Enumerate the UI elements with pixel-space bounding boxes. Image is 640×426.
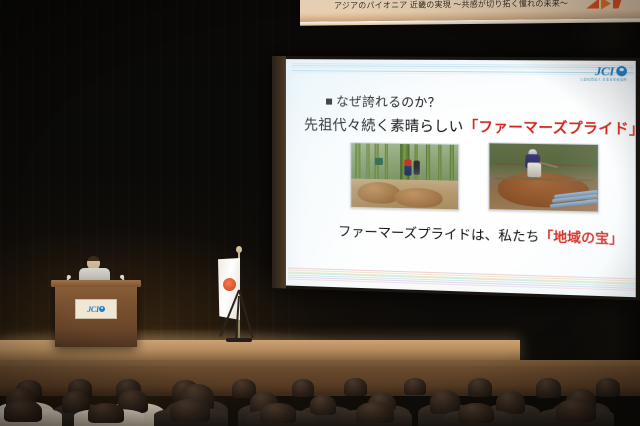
- slide-footer-line: ファーマーズプライドは、私たち「地域の宝」: [338, 221, 623, 248]
- slide-headline-text: なぜ誇れるのか？: [336, 95, 441, 110]
- bullet-square-icon: [326, 99, 332, 105]
- banner-arrow-mark-icon: [586, 0, 624, 11]
- audience-head: [536, 378, 561, 398]
- podium-jci-wordmark: JCI: [87, 305, 99, 314]
- audience: [0, 372, 640, 426]
- audience-head: [404, 378, 426, 395]
- podium-jci-emblem-icon: [99, 306, 105, 312]
- jci-logo-subtitle: 公益社団法人 日本青年会議所: [580, 79, 627, 82]
- slide-subhead: 先祖代々続く素晴らしい「ファーマーズプライド」: [304, 114, 636, 139]
- presentation-scene-photo: アジアのパイオニア 近畿の実現 ～共感が切り拓く憧れの未来～ JCI 公益社団法…: [0, 0, 640, 426]
- slide-bottom-stripes: [288, 267, 636, 293]
- slide-top-stripes: [292, 63, 634, 78]
- slide-jci-logo: JCI 公益社団法人 日本青年会議所: [586, 65, 627, 82]
- audience-head: [292, 379, 314, 397]
- audience-head: [4, 400, 42, 422]
- slide-subhead-highlight: 「ファーマーズプライド」: [464, 120, 636, 138]
- flag-base: [226, 338, 252, 342]
- slide-footer-highlight: 「地域の宝」: [539, 229, 623, 247]
- event-banner-text: アジアのパイオニア 近畿の実現 ～共感が切り拓く憧れの未来～: [334, 0, 568, 12]
- bamboo-grove-worker-photo: [488, 142, 599, 212]
- audience-head: [468, 378, 492, 397]
- japanese-flag: [212, 250, 262, 350]
- audience-head: [596, 378, 620, 397]
- audience-head: [556, 399, 596, 422]
- slide-headline: なぜ誇れるのか？: [326, 90, 441, 110]
- audience-head: [260, 403, 296, 423]
- bamboo-grove-digging-photo: [350, 142, 459, 210]
- audience-head: [344, 378, 367, 396]
- podium-top-surface: [51, 280, 141, 287]
- slide-footer-prefix: ファーマーズプライドは、私たち: [338, 224, 539, 245]
- podium-jci-sign: JCI: [75, 299, 117, 319]
- projection-screen: JCI 公益社団法人 日本青年会議所 なぜ誇れるのか？ 先祖代々続く素晴らしい「…: [272, 56, 640, 301]
- audience-head: [88, 403, 124, 423]
- jci-emblem-icon: [616, 66, 627, 77]
- slide-subhead-prefix: 先祖代々続く素晴らしい: [304, 118, 464, 135]
- screen-frame-edge: [272, 56, 286, 288]
- podium: JCI: [55, 285, 137, 347]
- audience-head: [310, 395, 336, 415]
- projected-slide: JCI 公益社団法人 日本青年会議所 なぜ誇れるのか？ 先祖代々続く素晴らしい「…: [286, 59, 636, 297]
- audience-head: [356, 402, 394, 423]
- jci-wordmark: JCI: [595, 65, 614, 78]
- audience-head: [170, 399, 210, 422]
- audience-head: [458, 403, 494, 423]
- flag-sun-disc: [223, 278, 236, 291]
